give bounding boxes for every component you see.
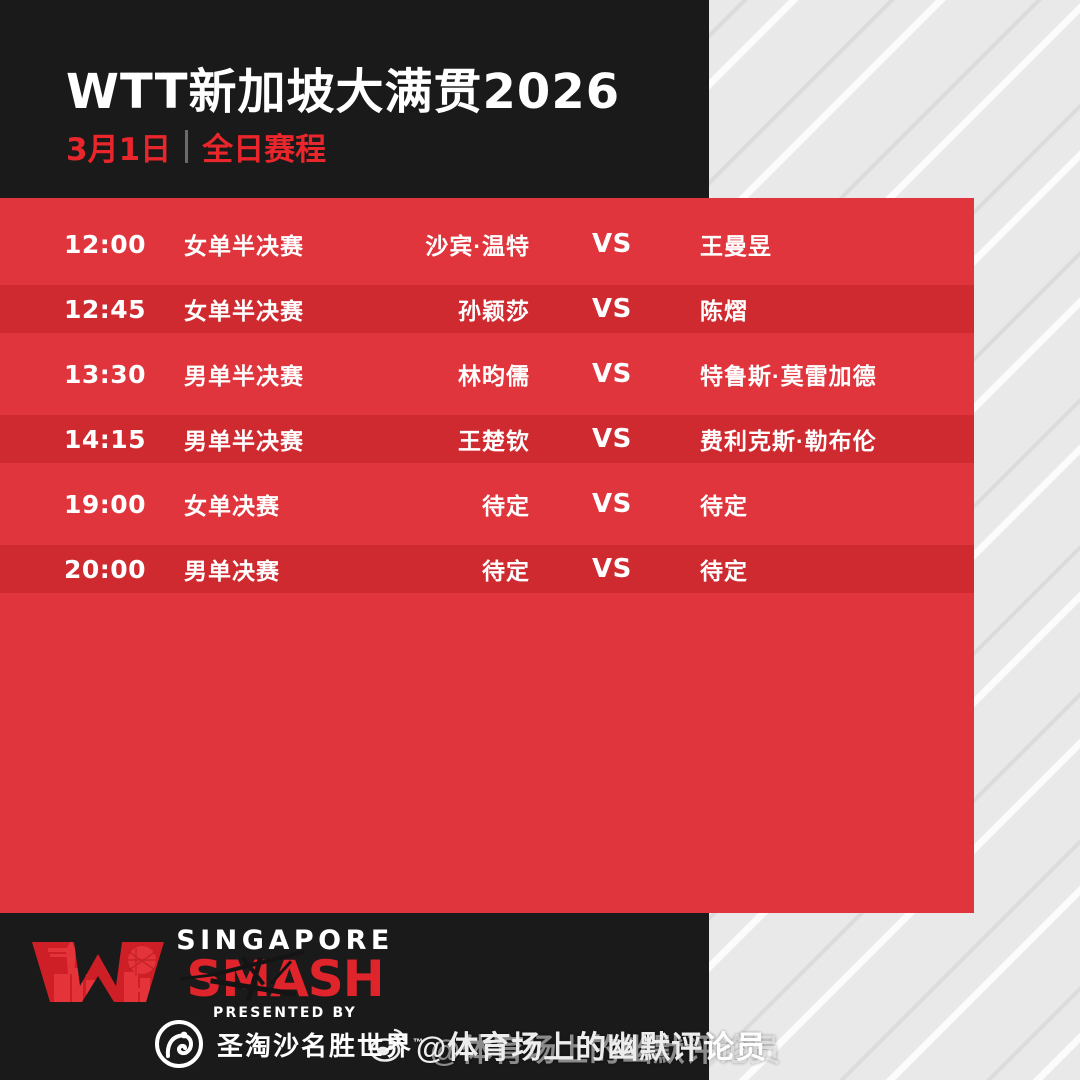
player-two: 陈熠: [700, 292, 748, 326]
table-row[interactable]: 12:45女单半决赛孙颖莎VS陈熠: [0, 285, 974, 333]
schedule-panel: 12:00女单半决赛沙宾·温特VS王曼昱12:45女单半决赛孙颖莎VS陈熠13:…: [0, 198, 974, 913]
subtitle-row: 3月1日 全日赛程: [66, 124, 326, 169]
table-row[interactable]: 20:00男单决赛待定VS待定: [0, 545, 974, 593]
vs-label: VS: [592, 359, 632, 389]
table-row[interactable]: 13:30男单半决赛林昀儒VS特鲁斯·莫雷加德: [0, 350, 974, 398]
player-one: 待定: [330, 552, 530, 586]
vs-label: VS: [592, 229, 632, 259]
match-time: 13:30: [64, 360, 146, 389]
player-one: 孙颖莎: [330, 292, 530, 326]
watermark-handle-ghost: @体育场上的幽默评论员: [430, 1025, 781, 1070]
event-date: 3月1日: [66, 124, 171, 169]
vs-label: VS: [592, 554, 632, 584]
player-two: 王曼昱: [700, 227, 772, 261]
match-time: 14:15: [64, 425, 146, 454]
match-event: 女单决赛: [184, 487, 280, 521]
vs-label: VS: [592, 489, 632, 519]
weibo-icon: [368, 1025, 408, 1065]
header-panel: WTT新加坡大满贯2026 3月1日 全日赛程: [0, 0, 709, 198]
page-title: WTT新加坡大满贯2026: [66, 52, 620, 122]
singapore-smash-w-icon: [28, 928, 168, 1008]
vs-label: VS: [592, 424, 632, 454]
smash-logo-lockup: SINGAPORE SMASH PRESENTED BY: [170, 927, 400, 1021]
player-two: 待定: [700, 552, 748, 586]
player-two: 待定: [700, 487, 748, 521]
watermark-handle: @体育场上的幽默评论员 @体育场上的幽默评论员: [416, 1022, 767, 1067]
table-row[interactable]: 12:00女单半决赛沙宾·温特VS王曼昱: [0, 220, 974, 268]
subtitle-divider: [185, 130, 188, 163]
table-row[interactable]: 14:15男单半决赛王楚钦VS费利克斯·勒布伦: [0, 415, 974, 463]
player-two: 特鲁斯·莫雷加德: [700, 357, 877, 391]
match-event: 男单半决赛: [184, 357, 304, 391]
resorts-world-sentosa-icon: [155, 1020, 203, 1068]
vs-label: VS: [592, 294, 632, 324]
match-time: 12:45: [64, 295, 146, 324]
match-event: 男单半决赛: [184, 422, 304, 456]
player-one: 沙宾·温特: [330, 227, 530, 261]
match-time: 19:00: [64, 490, 146, 519]
match-time: 12:00: [64, 230, 146, 259]
player-one: 林昀儒: [330, 357, 530, 391]
player-two: 费利克斯·勒布伦: [700, 422, 877, 456]
logo-smash-wrap: SMASH: [170, 955, 400, 1003]
match-event: 男单决赛: [184, 552, 280, 586]
schedule-label: 全日赛程: [202, 124, 326, 169]
table-row[interactable]: 19:00女单决赛待定VS待定: [0, 480, 974, 528]
match-time: 20:00: [64, 555, 146, 584]
match-event: 女单半决赛: [184, 292, 304, 326]
player-one: 王楚钦: [330, 422, 530, 456]
match-event: 女单半决赛: [184, 227, 304, 261]
player-one: 待定: [330, 487, 530, 521]
weibo-watermark: @体育场上的幽默评论员 @体育场上的幽默评论员: [368, 1022, 767, 1067]
logo-smash-text: SMASH: [170, 955, 400, 1003]
